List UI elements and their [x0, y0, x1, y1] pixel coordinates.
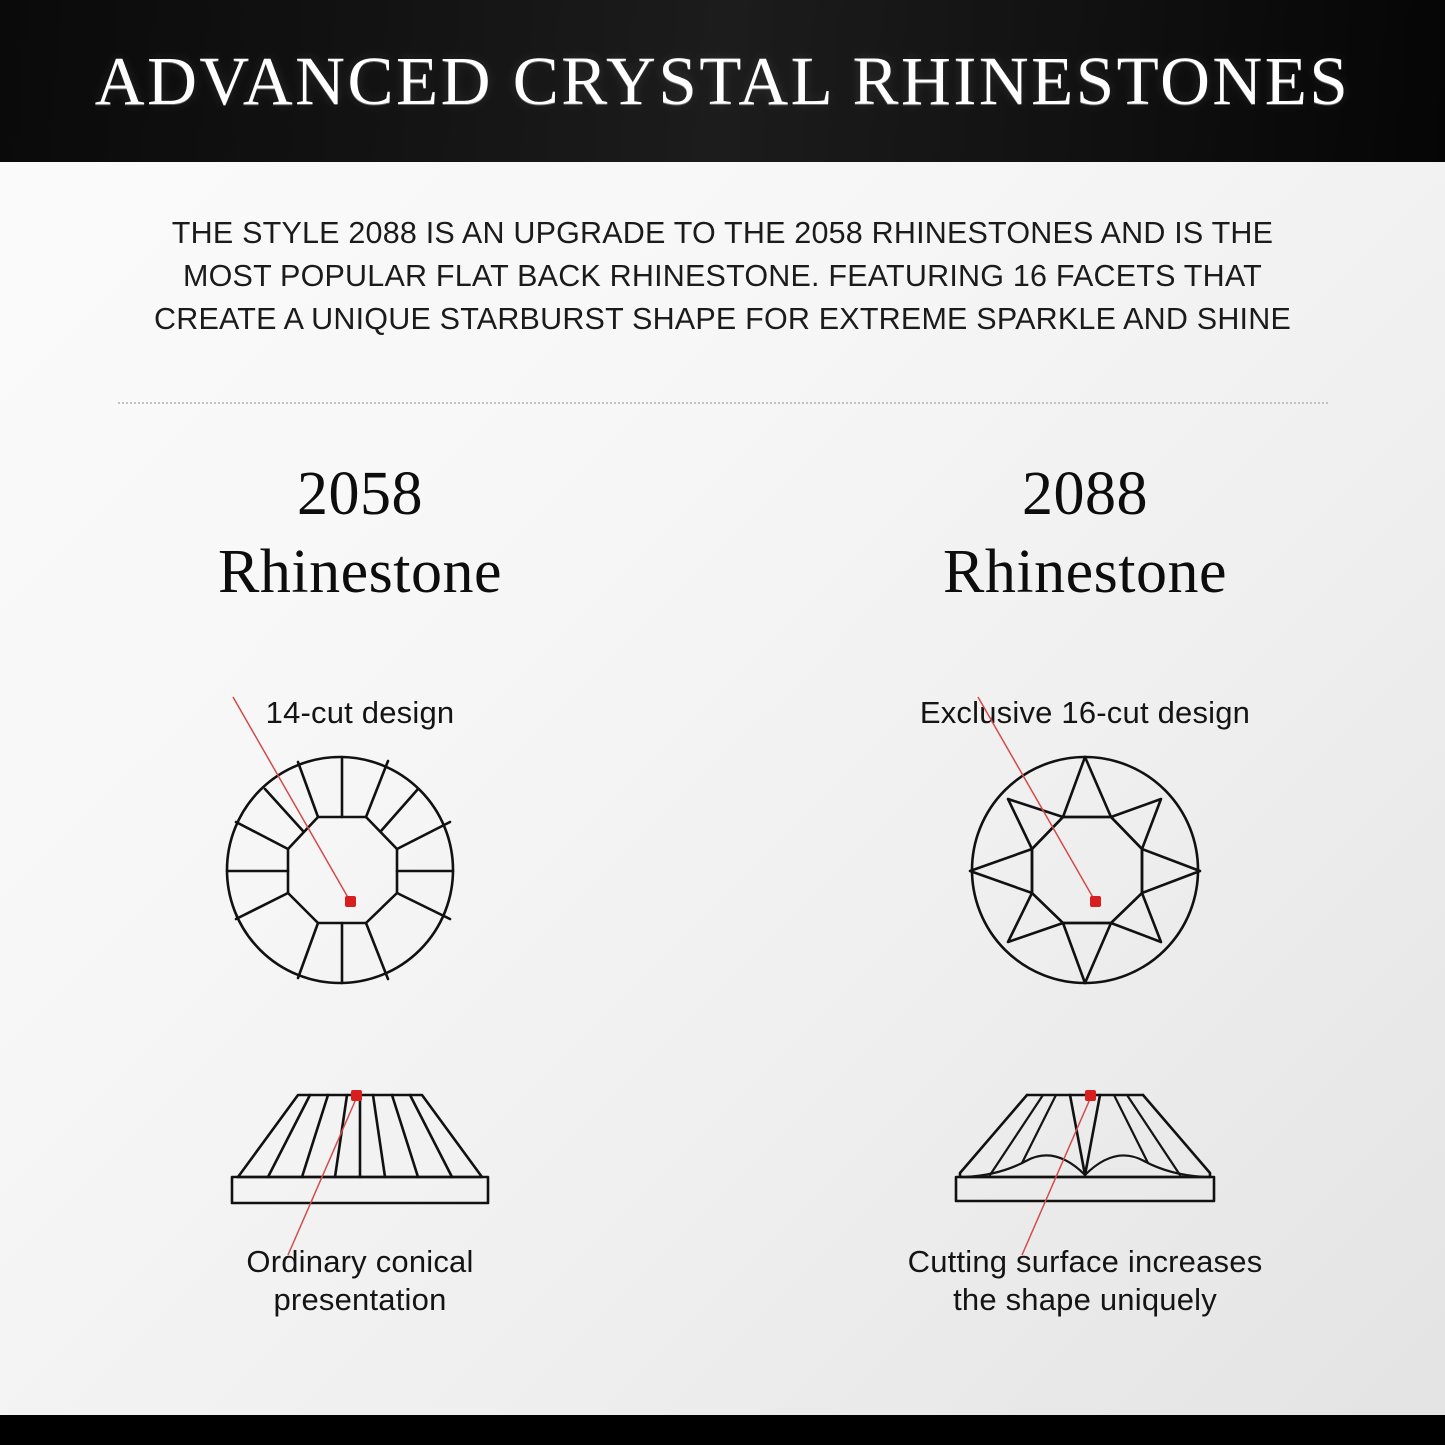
caption-2088-line-1: Cutting surface increases — [735, 1243, 1435, 1281]
page-title: ADVANCED CRYSTAL RHINESTONES — [95, 42, 1351, 121]
figure-2058-top-view — [10, 745, 710, 1005]
intro-line-2: MOST POPULAR FLAT BACK RHINESTONE. FEATU… — [90, 255, 1355, 298]
label-16-cut-design: Exclusive 16-cut design — [735, 695, 1435, 731]
header-banner: ADVANCED CRYSTAL RHINESTONES — [0, 0, 1445, 162]
caption-2088-line-2: the shape uniquely — [735, 1281, 1435, 1319]
column-2058-title-number: 2058 — [297, 460, 423, 528]
intro-line-1: THE STYLE 2088 IS AN UPGRADE TO THE 2058… — [90, 212, 1355, 255]
column-2088-title-number: 2088 — [1022, 460, 1148, 528]
column-2088-title: 2088 Rhinestone — [735, 455, 1435, 611]
label-14-cut-design: 14-cut design — [10, 695, 710, 731]
figure-2088-side-view — [735, 1077, 1435, 1217]
diagram-2088-top-icon — [935, 745, 1235, 995]
column-2058-title-word: Rhinestone — [10, 533, 710, 611]
infographic-page: ADVANCED CRYSTAL RHINESTONES THE STYLE 2… — [0, 0, 1445, 1445]
caption-2058-line-2: presentation — [10, 1281, 710, 1319]
caption-2088: Cutting surface increases the shape uniq… — [735, 1243, 1435, 1319]
column-2058: 2058 Rhinestone 14-cut design — [10, 455, 710, 1355]
figure-2058-side-view — [10, 1077, 710, 1217]
marker-dot-2058-side — [351, 1090, 362, 1101]
figure-2088-top-view — [735, 745, 1435, 1005]
diagram-2058-side-icon — [210, 1077, 510, 1217]
footer-bar — [0, 1415, 1445, 1445]
column-2088-title-word: Rhinestone — [735, 533, 1435, 611]
marker-dot-2058-top — [345, 896, 356, 907]
column-2088: 2088 Rhinestone Exclusive 16-cut design — [735, 455, 1435, 1355]
diagram-2088-side-icon — [930, 1077, 1240, 1217]
diagram-2058-top-icon — [210, 745, 510, 995]
caption-2058: Ordinary conical presentation — [10, 1243, 710, 1319]
column-2058-title: 2058 Rhinestone — [10, 455, 710, 611]
dotted-divider — [118, 402, 1328, 406]
caption-2058-line-1: Ordinary conical — [10, 1243, 710, 1281]
intro-line-3: CREATE A UNIQUE STARBURST SHAPE FOR EXTR… — [90, 298, 1355, 341]
marker-dot-2088-top — [1090, 896, 1101, 907]
marker-dot-2088-side — [1085, 1090, 1096, 1101]
intro-paragraph: THE STYLE 2088 IS AN UPGRADE TO THE 2058… — [90, 212, 1355, 341]
